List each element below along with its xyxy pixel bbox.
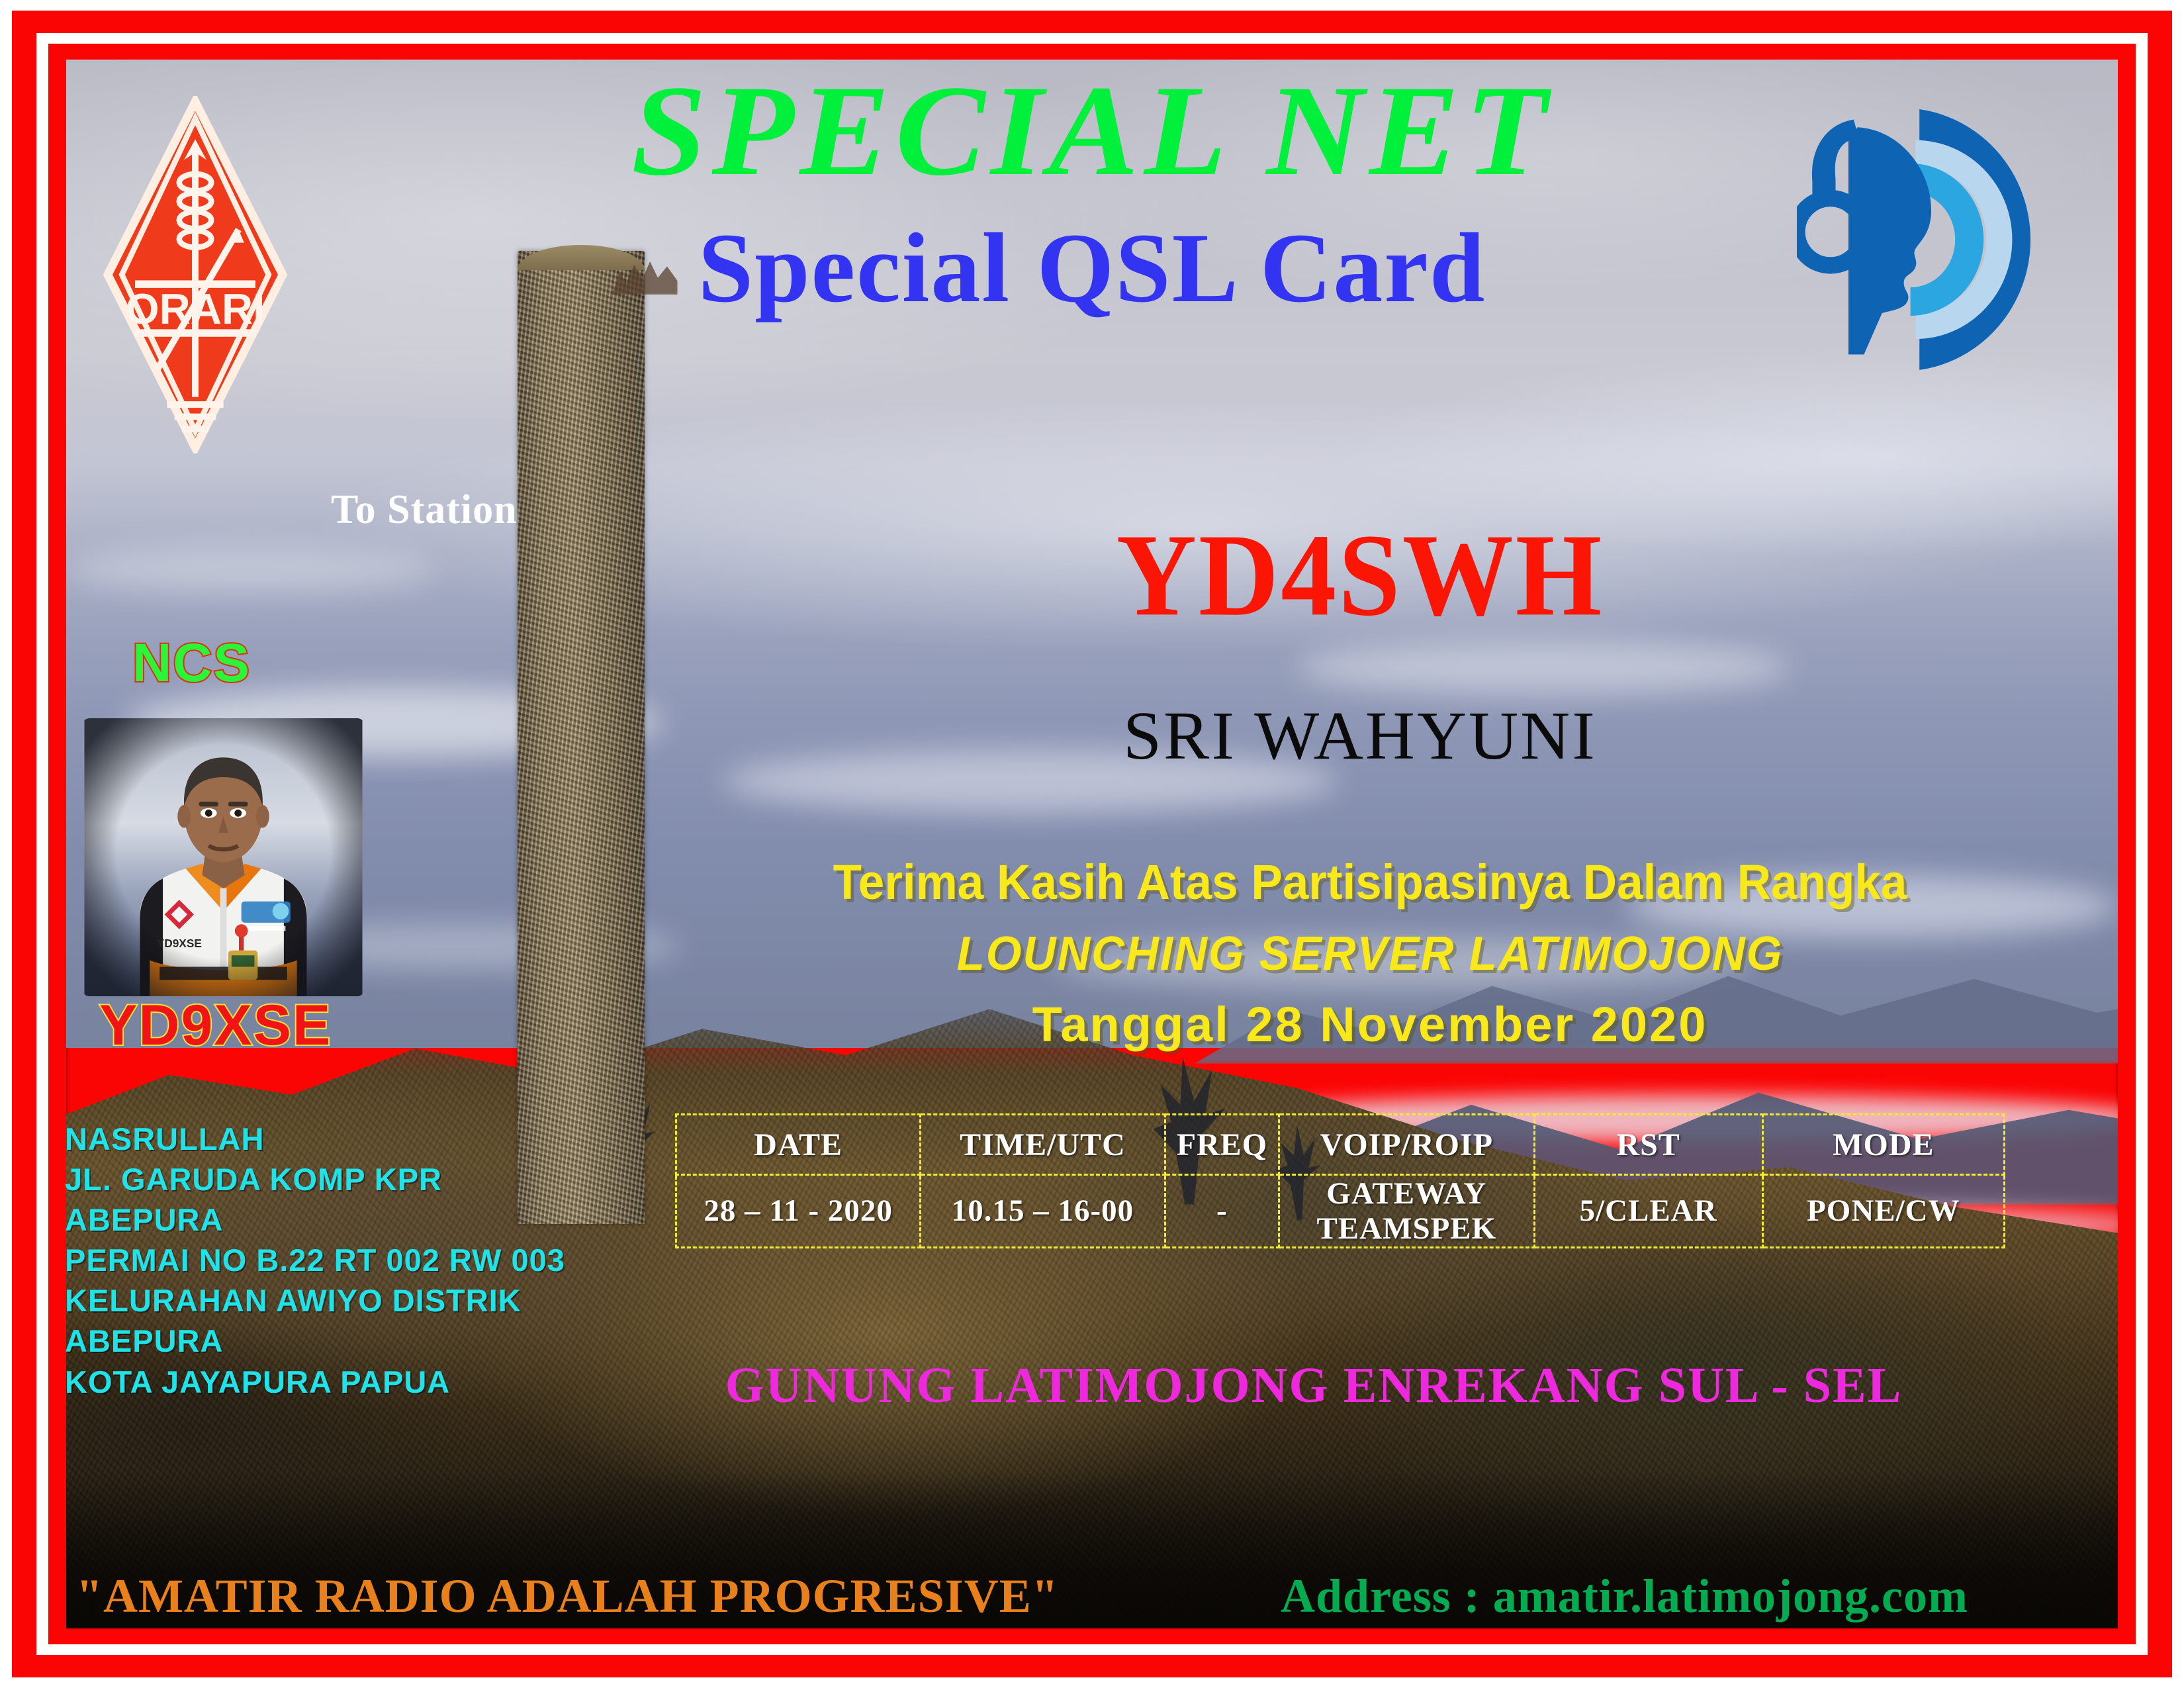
- cell-date: 28 – 11 - 2020: [676, 1175, 921, 1248]
- ncs-callsign: YD9XSE: [99, 993, 332, 1058]
- address-line: KOTA JAYAPURA PAPUA: [65, 1362, 565, 1402]
- table-row: 28 – 11 - 2020 10.15 – 16-00 - GATEWAY T…: [676, 1175, 2005, 1248]
- event-occasion-line: LOUNCHING SERVER LATIMOJONG: [728, 927, 2011, 981]
- column-header-date: DATE: [676, 1115, 921, 1175]
- operator-photo-svg: YD9XSE: [83, 718, 364, 996]
- qso-data-table: DATE TIME/UTC FREQ VOIP/ROIP RST MODE 28…: [675, 1113, 2005, 1248]
- ncs-label: NCS: [132, 632, 251, 694]
- column-header-rst: RST: [1534, 1115, 1762, 1175]
- address-line: NASRULLAH: [65, 1119, 565, 1159]
- footer-web-address: Address : amatir.latimojong.com: [1281, 1569, 1968, 1624]
- cell-freq: -: [1165, 1175, 1279, 1248]
- cell-rst: 5/CLEAR: [1534, 1175, 1762, 1248]
- column-header-voip-roip: VOIP/ROIP: [1279, 1115, 1534, 1175]
- page-title: SPECIAL NET: [0, 66, 2184, 196]
- cell-mode: PONE/CW: [1762, 1175, 2004, 1248]
- table-header-row: DATE TIME/UTC FREQ VOIP/ROIP RST MODE: [676, 1115, 2005, 1175]
- summit-monument-pillar: [518, 251, 645, 1223]
- cell-voip-roip-line1: GATEWAY: [1281, 1176, 1532, 1211]
- address-line: KELURAHAN AWIYO DISTRIK: [65, 1280, 565, 1321]
- location-line: GUNUNG LATIMOJONG ENREKANG SUL - SEL: [615, 1357, 2012, 1415]
- address-line: ABEPURA: [65, 1321, 565, 1361]
- address-line: PERMAI NO B.22 RT 002 RW 003: [65, 1240, 565, 1280]
- footer-motto: "AMATIR RADIO ADALAH PROGRESIVE": [76, 1569, 1059, 1624]
- destination-callsign: YD4SWH: [754, 516, 1966, 634]
- cell-voip-roip: GATEWAY TEAMSPEK: [1279, 1175, 1534, 1248]
- cloud-streak: [1297, 640, 1790, 695]
- page-subtitle: Special QSL Card: [0, 218, 2184, 318]
- address-line: ABEPURA: [65, 1199, 565, 1240]
- cloud-streak: [66, 546, 435, 593]
- event-thanks-line: Terima Kasih Atas Partisipasinya Dalam R…: [728, 854, 2011, 910]
- column-header-mode: MODE: [1762, 1115, 2004, 1175]
- cell-time: 10.15 – 16-00: [921, 1175, 1165, 1248]
- event-date-line: Tanggal 28 November 2020: [702, 996, 2038, 1053]
- cell-voip-roip-line2: TEAMSPEK: [1281, 1211, 1532, 1246]
- address-line: JL. GARUDA KOMP KPR: [65, 1159, 565, 1199]
- address-block: NASRULLAH JL. GARUDA KOMP KPR ABEPURA PE…: [65, 1119, 565, 1402]
- column-header-freq: FREQ: [1165, 1115, 1279, 1175]
- destination-operator-name: SRI WAHYUNI: [754, 702, 1966, 771]
- column-header-time: TIME/UTC: [921, 1115, 1165, 1175]
- to-station-label: To Station: [331, 487, 518, 534]
- qsl-card: ORARI SPECIAL NET Special QSL Card To St…: [0, 0, 2184, 1688]
- operator-photo: YD9XSE: [83, 718, 364, 996]
